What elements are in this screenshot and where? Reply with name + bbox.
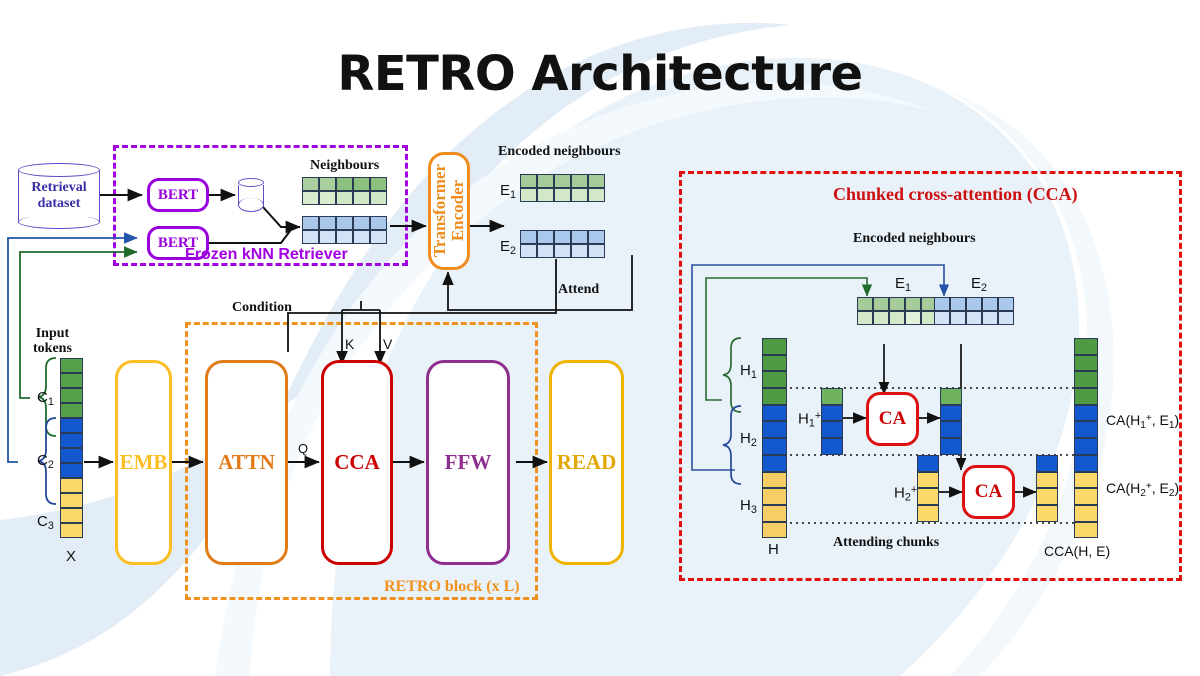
token-cell-c2 <box>60 448 83 463</box>
bert-top-label: BERT <box>158 187 198 204</box>
h3-label: H3 <box>740 497 757 516</box>
e1-cell <box>520 188 537 202</box>
diagram-canvas: RETRO Architecture Retrieval dataset BER… <box>0 0 1200 676</box>
token-cell-c3 <box>60 493 83 508</box>
cca-panel-title: Chunked cross-attention (CCA) <box>833 184 1078 205</box>
cca-block[interactable]: CCA <box>321 360 393 565</box>
e1-cell <box>588 188 605 202</box>
h-cell-h1 <box>762 371 787 388</box>
e1-cell <box>537 174 554 188</box>
neighbours-grid <box>302 177 387 205</box>
cca-e1-cell <box>873 311 889 325</box>
h-cell-h1 <box>762 355 787 372</box>
emb-label: EMB <box>120 450 168 475</box>
h2-plus-cell <box>917 488 939 505</box>
cca-e1-cell <box>857 311 873 325</box>
h1-plus-cell <box>821 421 843 438</box>
e2-label: E2 <box>500 238 516 257</box>
transformer-encoder-box[interactable]: TransformerEncoder <box>428 152 470 270</box>
cca-e2-cell <box>982 297 998 311</box>
cca-e1-cell <box>857 297 873 311</box>
v-label: V <box>383 336 392 352</box>
e1-cell <box>588 174 605 188</box>
cca-output-column <box>1074 338 1098 538</box>
neighbour-cell <box>319 230 336 244</box>
h2-plus-column <box>917 455 939 522</box>
neighbour-cell <box>353 216 370 230</box>
attend-label: Attend <box>558 282 599 298</box>
h-cell-h3 <box>762 472 787 489</box>
e1-cell <box>537 188 554 202</box>
neighbours-row <box>302 230 387 244</box>
e2-row <box>520 230 605 244</box>
e2-cell <box>554 230 571 244</box>
ca-h2-e2-output-label: CA(H2+, E2) <box>1106 480 1179 499</box>
input-tokens-column <box>60 358 83 538</box>
neighbour-cell <box>336 177 353 191</box>
cca-output-label: CCA(H, E) <box>1044 543 1110 559</box>
ca-h1-e1-output-label: CA(H1+, E1) <box>1106 412 1179 431</box>
ca1-out-cell <box>940 421 962 438</box>
h-cell-h2 <box>762 421 787 438</box>
cca-e2-label: E2 <box>971 275 987 294</box>
knn-index-cylinder <box>238 178 264 212</box>
cca-e2-cell <box>998 297 1014 311</box>
neighbours-row <box>302 216 387 230</box>
attn-block[interactable]: ATTN <box>205 360 288 565</box>
e1-cell <box>571 188 588 202</box>
e1-cell <box>571 174 588 188</box>
cca-e2-cell <box>950 311 966 325</box>
cca-e1-cell <box>889 311 905 325</box>
e2-cell <box>537 244 554 258</box>
condition-label: Condition <box>232 300 292 316</box>
cca-e2-row <box>934 297 1014 311</box>
h-cell-h3 <box>762 522 787 539</box>
ca-box-2[interactable]: CA <box>962 465 1015 519</box>
ca1-output-column <box>940 388 962 455</box>
cca-e2-cell <box>966 297 982 311</box>
ca-2-label: CA <box>975 481 1002 503</box>
e2-cell <box>588 244 605 258</box>
cca-out-cell <box>1074 472 1098 489</box>
cca-e1-cell <box>905 311 921 325</box>
h1-plus-column <box>821 388 843 455</box>
cca-out-cell <box>1074 388 1098 405</box>
cca-out-cell <box>1074 488 1098 505</box>
h2-label: H2 <box>740 430 757 449</box>
transformer-encoder-label: TransformerEncoder <box>431 164 467 257</box>
neighbour-cell <box>302 191 319 205</box>
cca-e2-cell <box>998 311 1014 325</box>
e1-cell <box>554 188 571 202</box>
cca-out-cell <box>1074 421 1098 438</box>
neighbour-cell <box>353 191 370 205</box>
neighbour-cell <box>370 177 387 191</box>
ca2-out-cell <box>1036 505 1058 522</box>
encoded-neighbours-label: Encoded neighbours <box>498 144 621 160</box>
h1-plus-cell <box>821 405 843 422</box>
neighbour-cell <box>336 191 353 205</box>
input-tokens-label-line2: tokens <box>33 341 72 356</box>
h-cell-h3 <box>762 488 787 505</box>
neighbour-cell <box>302 216 319 230</box>
neighbour-cell <box>336 216 353 230</box>
cca-encoded-neighbours-label: Encoded neighbours <box>853 231 976 247</box>
e2-cell <box>520 230 537 244</box>
x-label: X <box>66 548 76 565</box>
encoded-neighbours-e2 <box>520 230 605 258</box>
frozen-knn-retriever-caption: Frozen kNN Retriever <box>185 246 348 264</box>
neighbour-cell <box>353 230 370 244</box>
cca-e1-grid <box>857 297 937 325</box>
token-cell-c1 <box>60 373 83 388</box>
cca-e1-cell <box>873 297 889 311</box>
cca-e1-cell <box>905 297 921 311</box>
k-label: K <box>345 336 354 352</box>
neighbour-cell <box>336 230 353 244</box>
cca-out-cell <box>1074 455 1098 472</box>
neighbours-row <box>302 177 387 191</box>
e2-cell <box>537 230 554 244</box>
neighbour-cell <box>302 177 319 191</box>
retrieval-dataset-label-line2: dataset <box>18 196 100 212</box>
chunk-label-c2: C2 <box>37 452 54 471</box>
token-cell-c2 <box>60 433 83 448</box>
h-cell-h1 <box>762 338 787 355</box>
cca-e2-cell <box>966 311 982 325</box>
neighbour-cell <box>353 177 370 191</box>
cca-e1-cell <box>889 297 905 311</box>
cca-out-cell <box>1074 522 1098 539</box>
e2-row <box>520 244 605 258</box>
token-cell-c2 <box>60 463 83 478</box>
neighbour-cell <box>302 230 319 244</box>
e2-cell <box>571 230 588 244</box>
ffw-block[interactable]: FFW <box>426 360 510 565</box>
cca-e1-label: E1 <box>895 275 911 294</box>
h2-plus-cell <box>917 455 939 472</box>
h2-plus-cell <box>917 505 939 522</box>
read-block[interactable]: READ <box>549 360 624 565</box>
h-cell-h2 <box>762 455 787 472</box>
e2-cell <box>588 230 605 244</box>
cca-label: CCA <box>334 450 380 475</box>
neighbours-label: Neighbours <box>310 158 379 174</box>
ca-1-label: CA <box>879 408 906 430</box>
token-cell-c3 <box>60 523 83 538</box>
e1-row <box>520 188 605 202</box>
e2-cell <box>520 244 537 258</box>
e1-label: E1 <box>500 182 516 201</box>
e1-row <box>520 174 605 188</box>
cca-e1-row <box>857 311 937 325</box>
read-label: READ <box>557 450 617 475</box>
cca-e2-cell <box>982 311 998 325</box>
cca-e2-cell <box>934 297 950 311</box>
ca1-out-cell <box>940 405 962 422</box>
cca-e2-grid <box>934 297 1014 325</box>
neighbour-cell <box>370 230 387 244</box>
h2-plus-cell <box>917 472 939 489</box>
input-tokens-label: Input tokens <box>33 326 72 356</box>
cca-out-cell <box>1074 338 1098 355</box>
cca-e2-cell <box>950 297 966 311</box>
token-cell-c3 <box>60 508 83 523</box>
bert-encoder-top[interactable]: BERT <box>147 178 209 212</box>
h-cell-h2 <box>762 405 787 422</box>
page-title: RETRO Architecture <box>0 46 1200 102</box>
h-cell-h2 <box>762 438 787 455</box>
neighbour-cell <box>319 216 336 230</box>
h1-plus-cell <box>821 438 843 455</box>
h1-label: H1 <box>740 362 757 381</box>
retrieval-dataset-label-line1: Retrieval <box>18 180 100 196</box>
e2-cell <box>554 244 571 258</box>
chunk-label-c3: C3 <box>37 513 54 532</box>
encoded-neighbours-e1 <box>520 174 605 202</box>
h1-plus-label: H1+ <box>798 410 821 430</box>
h-column-label: H <box>768 541 779 558</box>
ca2-out-cell <box>1036 472 1058 489</box>
token-cell-c1 <box>60 358 83 373</box>
h2-plus-label: H2+ <box>894 484 917 504</box>
cca-out-cell <box>1074 505 1098 522</box>
token-cell-c3 <box>60 478 83 493</box>
chunk-label-c1: C1 <box>37 389 54 408</box>
retrieval-dataset-cylinder: Retrieval dataset <box>18 163 100 229</box>
ca2-out-cell <box>1036 488 1058 505</box>
e1-cell <box>554 174 571 188</box>
retro-block-caption: RETRO block (x L) <box>384 578 520 596</box>
token-cell-c1 <box>60 388 83 403</box>
ca1-out-cell <box>940 388 962 405</box>
token-cell-c2 <box>60 418 83 433</box>
neighbour-cell <box>370 216 387 230</box>
q-label: Q <box>298 441 308 456</box>
emb-block[interactable]: EMB <box>115 360 172 565</box>
neighbour-cell <box>319 191 336 205</box>
input-tokens-label-line1: Input <box>33 326 72 341</box>
cca-e1-row <box>857 297 937 311</box>
neighbours-row <box>302 191 387 205</box>
e1-cell <box>520 174 537 188</box>
cca-e2-cell <box>934 311 950 325</box>
ca-box-1[interactable]: CA <box>866 392 919 446</box>
cca-out-cell <box>1074 438 1098 455</box>
h-cell-h3 <box>762 505 787 522</box>
cca-out-cell <box>1074 371 1098 388</box>
cca-e2-row <box>934 311 1014 325</box>
ca2-output-column <box>1036 455 1058 522</box>
ca1-out-cell <box>940 438 962 455</box>
token-cell-c1 <box>60 403 83 418</box>
h-cell-h1 <box>762 388 787 405</box>
h-column <box>762 338 787 538</box>
neighbour-cell <box>370 191 387 205</box>
ffw-label: FFW <box>445 450 492 475</box>
cca-out-cell <box>1074 355 1098 372</box>
attn-label: ATTN <box>218 450 275 475</box>
attending-chunks-label: Attending chunks <box>833 535 939 551</box>
neighbours-grid-2 <box>302 216 387 244</box>
h1-plus-cell <box>821 388 843 405</box>
ca2-out-cell <box>1036 455 1058 472</box>
e2-cell <box>571 244 588 258</box>
neighbour-cell <box>319 177 336 191</box>
cca-out-cell <box>1074 405 1098 422</box>
